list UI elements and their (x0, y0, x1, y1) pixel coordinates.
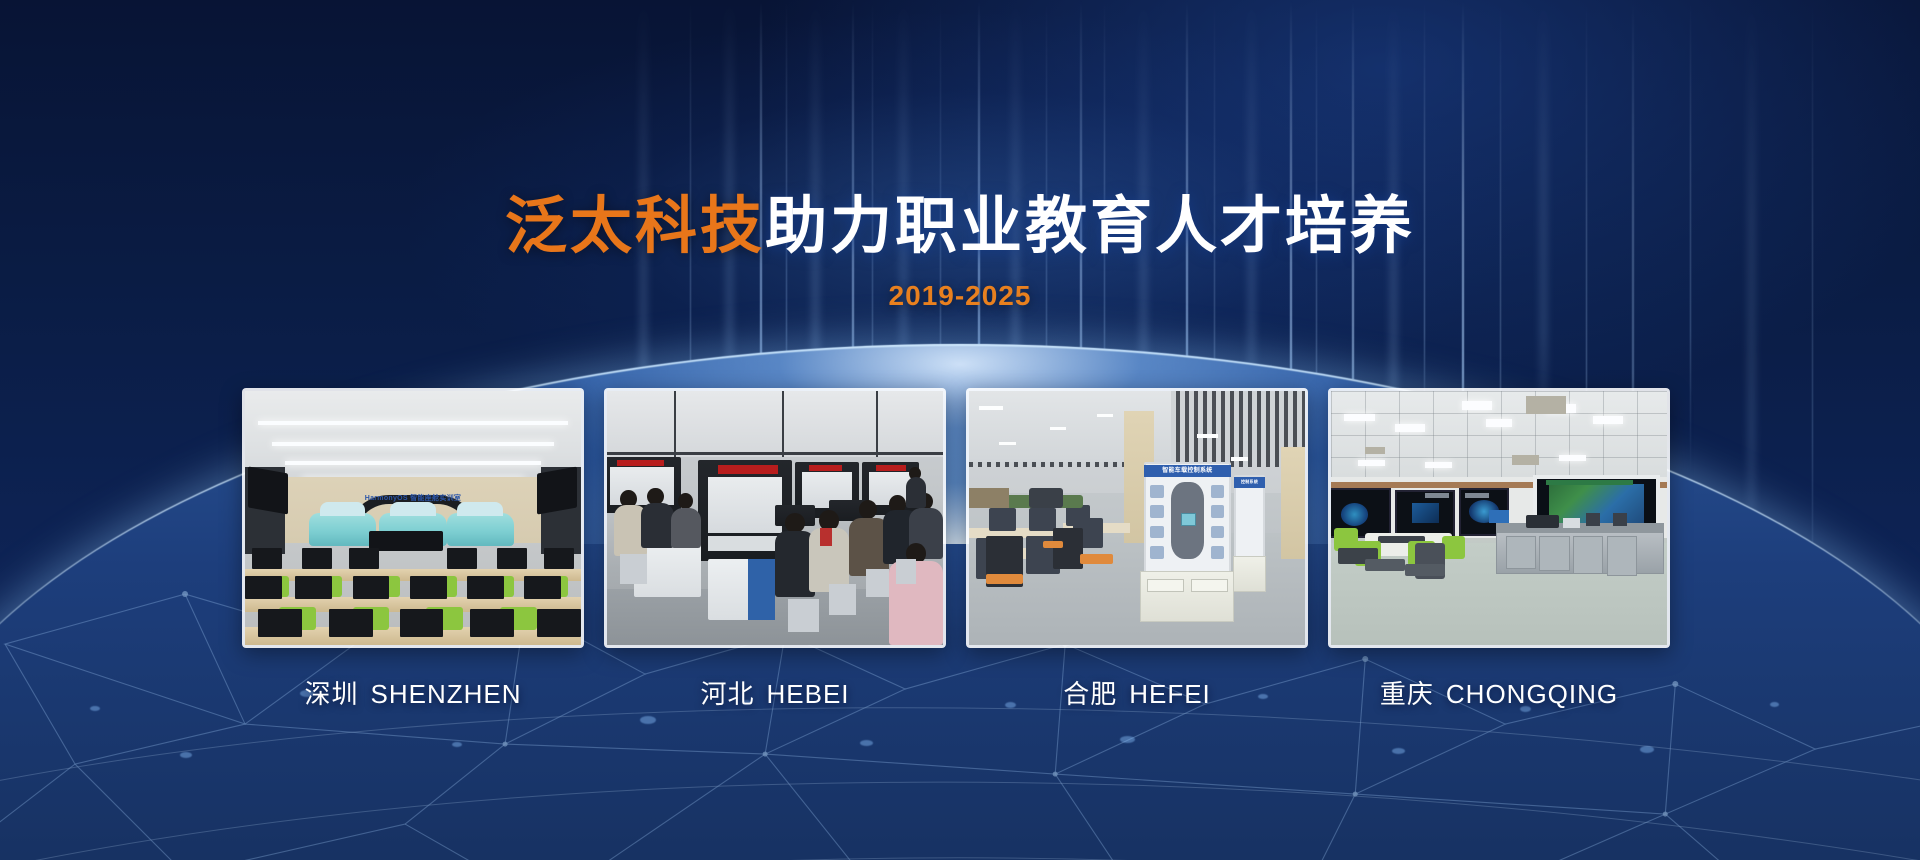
caption-cn: 深圳 (304, 679, 358, 709)
gallery-caption: 河北HEBEI (604, 674, 946, 711)
gallery-item-hefei[interactable]: 智能车载控制系统 控制系统 (966, 388, 1308, 711)
photo-hefei-vehicle-control-lab: 智能车载控制系统 控制系统 (969, 391, 1305, 645)
gallery-caption: 重庆CHONGQING (1328, 674, 1670, 711)
gallery-caption: 深圳SHENZHEN (242, 674, 584, 711)
caption-cn: 重庆 (1380, 679, 1434, 709)
caption-en: HEFEI (1129, 679, 1211, 709)
photo-frame (1328, 388, 1670, 648)
photo-gallery: HarmonyOS 智能座舱实训室 (242, 388, 1670, 711)
caption-en: CHONGQING (1446, 679, 1618, 709)
title-rest: 助力职业教育人才培养 (765, 192, 1415, 261)
photo-frame: 智能车载控制系统 控制系统 (966, 388, 1308, 648)
caption-en: SHENZHEN (371, 679, 522, 709)
photo-frame (604, 388, 946, 648)
gallery-item-hebei[interactable]: 河北HEBEI (604, 388, 946, 711)
photo-shenzhen-classroom: HarmonyOS 智能座舱实训室 (245, 391, 581, 645)
subtitle-year-range: 2019-2025 (0, 280, 1920, 312)
title-block: 泛太科技助力职业教育人才培养 2019-2025 (0, 196, 1920, 312)
gallery-item-shenzhen[interactable]: HarmonyOS 智能座舱实训室 (242, 388, 584, 711)
title-brand: 泛太科技 (505, 192, 765, 261)
photo-chongqing-smart-lab (1331, 391, 1667, 645)
gallery-item-chongqing[interactable]: 重庆CHONGQING (1328, 388, 1670, 711)
photo-frame: HarmonyOS 智能座舱实训室 (242, 388, 584, 648)
gallery-caption: 合肥HEFEI (966, 674, 1308, 711)
caption-cn: 河北 (700, 679, 754, 709)
caption-cn: 合肥 (1063, 679, 1117, 709)
photo-hebei-automation-lab (607, 391, 943, 645)
caption-en: HEBEI (766, 679, 849, 709)
page-title: 泛太科技助力职业教育人才培养 (505, 196, 1415, 258)
promo-banner: 泛太科技助力职业教育人才培养 2019-2025 (0, 0, 1920, 860)
